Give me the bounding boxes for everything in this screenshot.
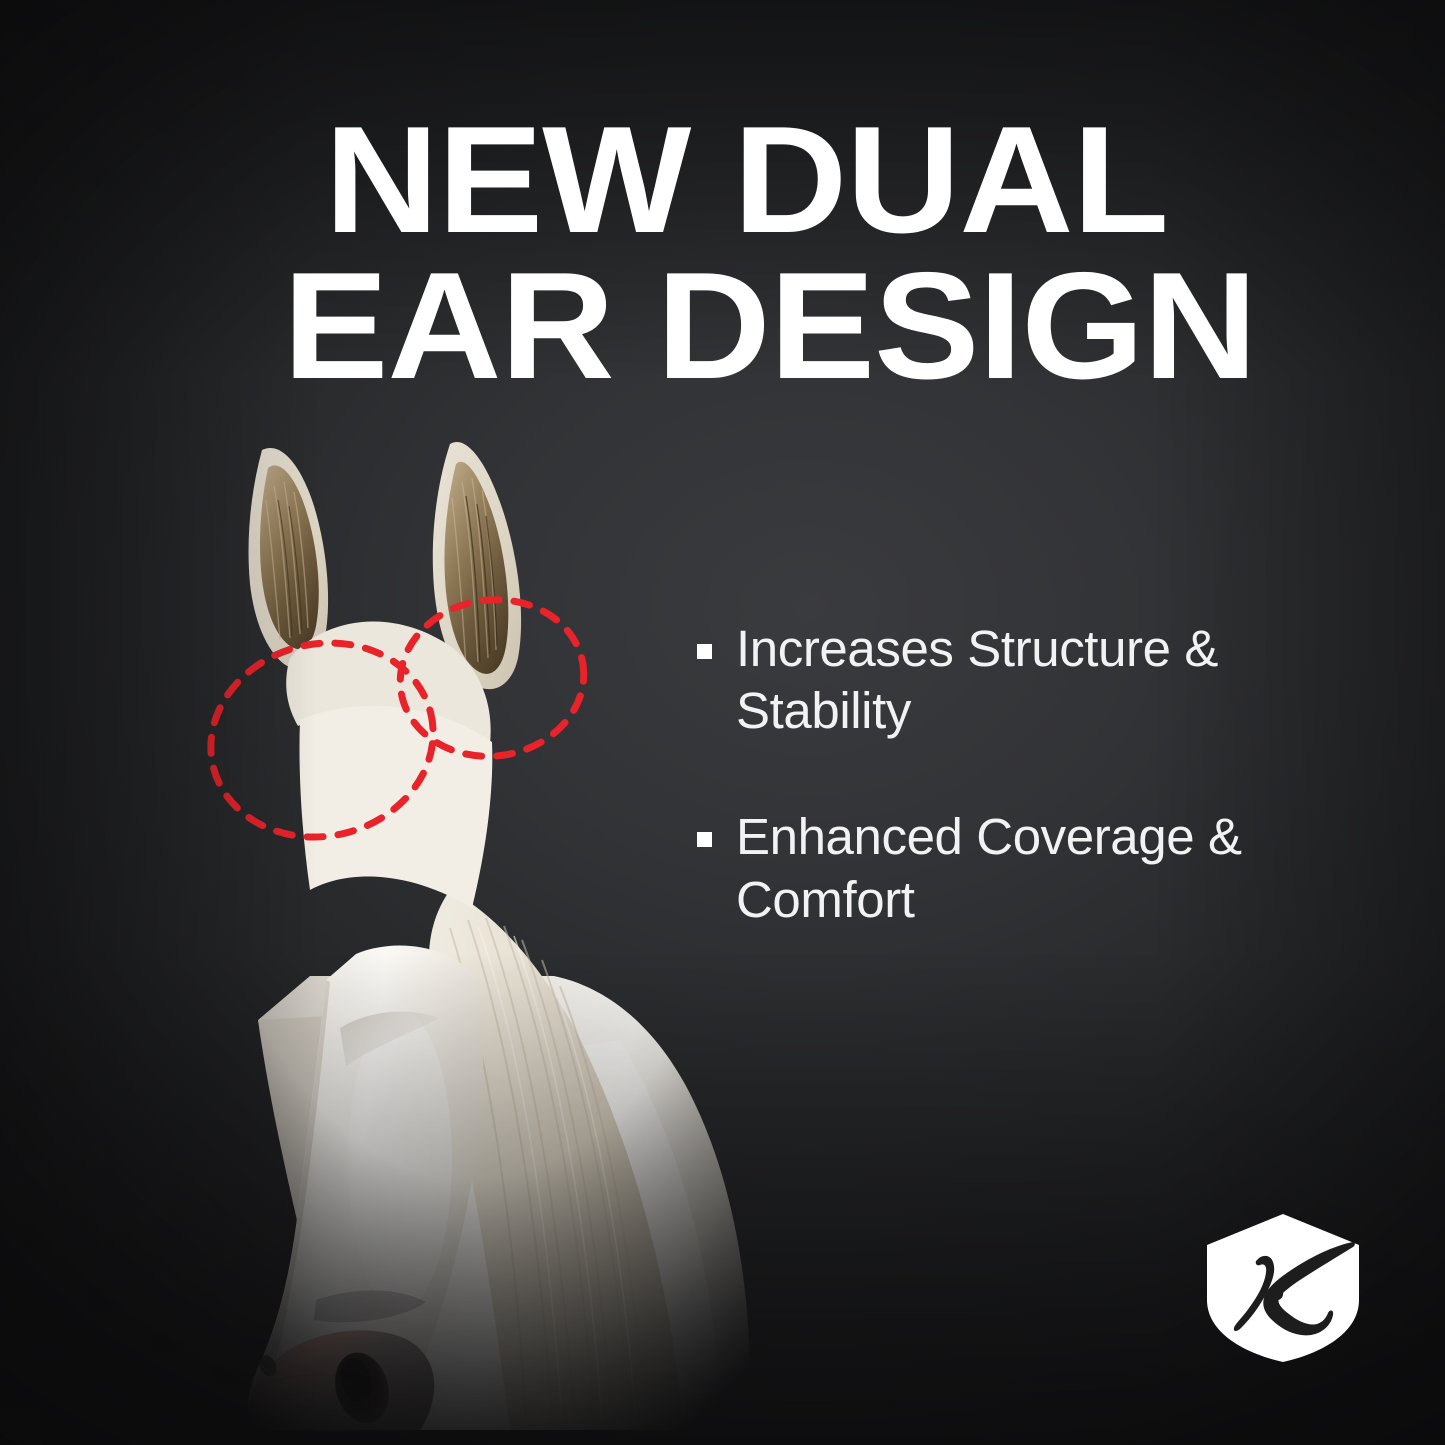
feature-list: Increases Structure & Stability Enhanced… [697,618,1357,995]
list-item-label: Increases Structure & Stability [736,618,1357,742]
horse-head-image [150,420,770,1430]
square-bullet-icon [697,832,712,847]
page-title: NEW DUAL EAR DESIGN [283,108,1233,400]
list-item: Enhanced Coverage & Comfort [697,806,1357,930]
square-bullet-icon [697,644,712,659]
brand-logo [1203,1212,1363,1364]
list-item-label: Enhanced Coverage & Comfort [736,806,1357,930]
headline-line-2: EAR DESIGN [283,254,1271,400]
product-feature-graphic: NEW DUAL EAR DESIGN Increases Structure … [0,0,1445,1445]
list-item: Increases Structure & Stability [697,618,1357,742]
headline-line-1: NEW DUAL [283,108,1271,254]
